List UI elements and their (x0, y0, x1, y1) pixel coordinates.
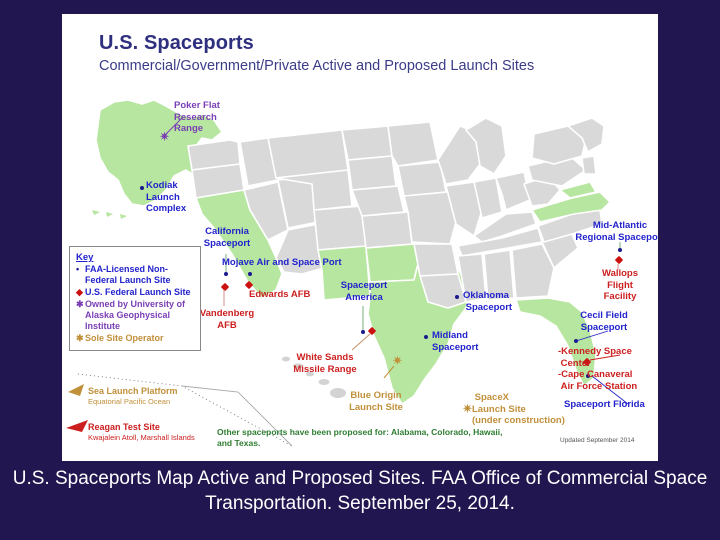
state-kansas (362, 212, 412, 248)
sea-launch-title: Sea Launch Platform (88, 386, 178, 397)
offshore-reagan-test-site: Reagan Test Site Kwajalein Atoll, Marsha… (88, 422, 195, 443)
map-label-kennedy-cape: -Kennedy Space Center-Cape Canaveral Air… (558, 346, 637, 392)
state-minnesota (388, 122, 438, 166)
gold-star-icon: ✱ (76, 333, 85, 344)
updated-date: Updated September 2014 (560, 437, 634, 444)
key-item-sole-operator: ✱ Sole Site Operator (76, 333, 194, 344)
map-key-legend: Key • FAA-Licensed Non-Federal Launch Si… (69, 246, 201, 351)
map-label-mojave: Mojave Air and Space Port (222, 257, 342, 269)
key-item-label: Sole Site Operator (85, 333, 194, 344)
spaceport-america-dot-marker (361, 330, 365, 334)
map-label-spaceport-america: SpaceportAmerica (324, 280, 404, 303)
california-spaceport-dot-marker (224, 272, 228, 276)
map-label-kodiak: KodiakLaunchComplex (146, 180, 186, 215)
map-label-white-sands: White SandsMissile Range (270, 352, 380, 375)
sea-launch-subtitle: Equatorial Pacific Ocean (88, 397, 178, 407)
other-spaceports-note: Other spaceports have been proposed for:… (217, 427, 507, 449)
key-item-university-alaska: ✱ Owned by University of Alaska Geophysi… (76, 299, 194, 332)
map-panel: U.S. Spaceports Commercial/Government/Pr… (62, 14, 658, 461)
key-item-label: U.S. Federal Launch Site (85, 287, 194, 298)
aleutian-islands (92, 210, 127, 219)
state-iowa (398, 162, 446, 196)
kodiak-dot-marker (140, 186, 144, 190)
key-item-label: FAA-Licensed Non-Federal Launch Site (85, 264, 194, 286)
key-item-faa-licensed: • FAA-Licensed Non-Federal Launch Site (76, 264, 194, 286)
offshore-sea-launch-platform: Sea Launch Platform Equatorial Pacific O… (88, 386, 178, 407)
slide-root: U.S. Spaceports Commercial/Government/Pr… (0, 0, 720, 540)
map-label-mid-atlantic: Mid-AtlanticRegional Spaceport (550, 220, 658, 243)
state-new-jersey (582, 156, 596, 174)
map-label-cecil-field: Cecil FieldSpaceport (552, 310, 656, 333)
poker-flat-star-marker: ✷ (159, 134, 170, 142)
map-label-spacex: SpaceXLaunch Site(under construction) (472, 392, 565, 427)
mid-atlantic-dot-marker (618, 248, 622, 252)
blue-origin-star-marker: ✷ (392, 358, 403, 366)
map-label-edwards-afb: Edwards AFB (249, 289, 310, 301)
purple-star-icon: ✱ (76, 299, 85, 310)
reagan-title: Reagan Test Site (88, 422, 195, 433)
key-item-label: Owned by University of Alaska Geophysica… (85, 299, 194, 332)
state-nebraska (352, 186, 404, 216)
mojave-dot-marker (248, 272, 252, 276)
state-arkansas (414, 244, 458, 276)
state-missouri (404, 192, 456, 244)
map-label-oklahoma-spaceport: Oklahoma Spaceport (463, 290, 512, 313)
map-label-spaceport-florida: Spaceport Florida (564, 399, 645, 411)
slide-caption: U.S. Spaceports Map Active and Proposed … (0, 466, 720, 516)
cecil-field-dot-marker (574, 339, 578, 343)
key-item-federal: ◆ U.S. Federal Launch Site (76, 287, 194, 298)
reagan-subtitle: Kwajalein Atoll, Marshall Islands (88, 433, 195, 443)
midland-spaceport-dot-marker (424, 335, 428, 339)
state-south-dakota (348, 156, 396, 190)
state-north-dakota (342, 126, 392, 160)
map-label-midland-spaceport: MidlandSpaceport (432, 330, 478, 353)
oklahoma-spaceport-dot-marker (455, 295, 459, 299)
state-colorado (314, 206, 366, 250)
key-heading: Key (76, 252, 194, 263)
map-label-poker-flat: Poker FlatResearchRange (174, 100, 220, 135)
blue-dot-icon: • (76, 264, 85, 275)
red-diamond-icon: ◆ (76, 287, 85, 298)
map-label-blue-origin: Blue OriginLaunch Site (326, 390, 426, 413)
map-label-wallops: WallopsFlightFacility (582, 268, 658, 303)
